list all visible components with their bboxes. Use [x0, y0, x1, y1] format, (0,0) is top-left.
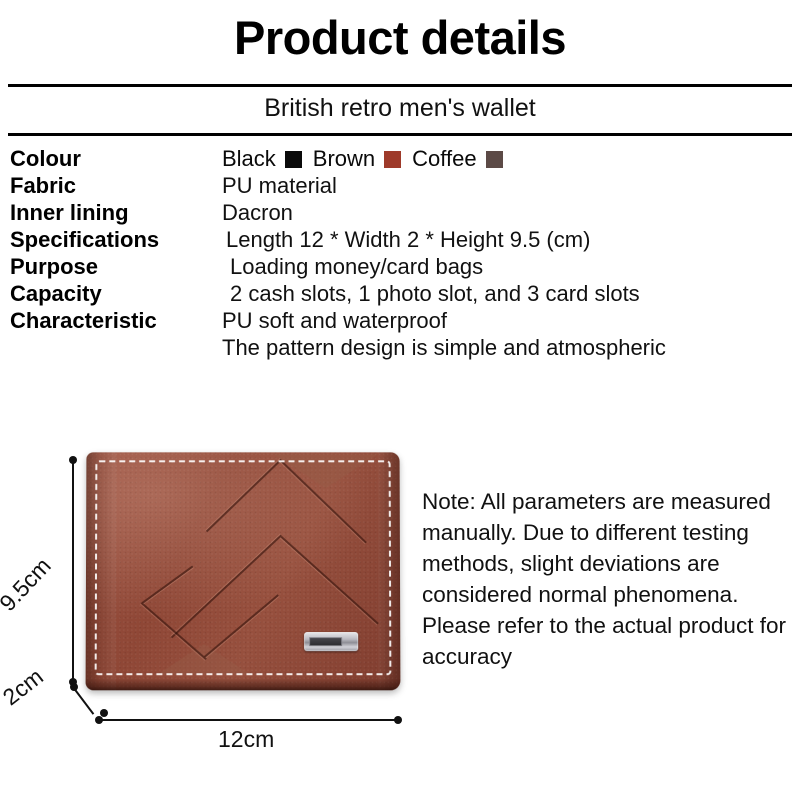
wallet-right-fold [378, 452, 401, 690]
measurement-note: Note: All parameters are measured manual… [422, 486, 798, 672]
spec-label: Characteristic [10, 308, 222, 334]
wallet-seam [206, 459, 282, 532]
wallet-seam [204, 594, 279, 657]
spec-row-specifications: Specifications Length 12 * Width 2 * Hei… [10, 227, 796, 254]
colour-chip-coffee [486, 151, 503, 168]
spec-label: Specifications [10, 227, 222, 253]
spec-row-purpose: Purpose Loading money/card bags [10, 254, 796, 281]
wallet-seam [142, 566, 193, 604]
colour-name-coffee: Coffee [412, 146, 476, 172]
colour-swatch-list: Black Brown Coffee [222, 146, 514, 172]
product-subtitle: British retro men's wallet [0, 94, 800, 123]
spec-value: PU soft and waterproof [222, 308, 447, 334]
wallet-left-fold [86, 452, 117, 690]
spec-label: Purpose [10, 254, 222, 280]
spec-label-spacer [10, 335, 222, 365]
wallet-logo-plate [304, 632, 358, 651]
spec-value: The pattern design is simple and atmosph… [222, 335, 666, 365]
dimension-label-height: 9.5cm [0, 552, 57, 616]
spec-value: PU material [222, 173, 337, 199]
spec-value: Loading money/card bags [222, 254, 483, 280]
product-details-page: Product details British retro men's wall… [0, 0, 800, 800]
dimension-endpoint [70, 683, 78, 691]
spec-value: 2 cash slots, 1 photo slot, and 3 card s… [222, 281, 640, 307]
colour-chip-black [285, 151, 302, 168]
dimension-line-height [72, 460, 74, 682]
wallet-seam [281, 460, 367, 543]
spec-row-fabric: Fabric PU material [10, 173, 796, 200]
page-title: Product details [0, 12, 800, 64]
product-image [86, 452, 400, 694]
wallet-bottom-edge [86, 678, 401, 690]
dimension-endpoint [69, 456, 77, 464]
dimension-line-width [98, 719, 398, 721]
dimension-endpoint [394, 716, 402, 724]
spec-row-inner-lining: Inner lining Dacron [10, 200, 796, 227]
spec-row-characteristic-line2: The pattern design is simple and atmosph… [10, 335, 796, 365]
dimension-label-width: 12cm [218, 726, 274, 753]
dimension-endpoint [95, 716, 103, 724]
wallet-body [86, 452, 401, 690]
dimension-label-depth: 2cm [0, 663, 49, 711]
divider-top [8, 84, 792, 87]
wallet-seam [171, 535, 282, 639]
spec-value: Dacron [222, 200, 293, 226]
colour-chip-brown [384, 151, 401, 168]
spec-row-colour: Colour Black Brown Coffee [10, 146, 796, 173]
spec-label: Colour [10, 146, 222, 172]
spec-value: Length 12 * Width 2 * Height 9.5 (cm) [222, 227, 590, 253]
spec-row-characteristic: Characteristic PU soft and waterproof [10, 308, 796, 335]
spec-label: Fabric [10, 173, 222, 199]
divider-bottom [8, 133, 792, 136]
spec-label: Inner lining [10, 200, 222, 226]
spec-label: Capacity [10, 281, 222, 307]
specification-table: Colour Black Brown Coffee Fabric PU mate… [10, 146, 796, 365]
spec-row-capacity: Capacity 2 cash slots, 1 photo slot, and… [10, 281, 796, 308]
colour-name-brown: Brown [313, 146, 375, 172]
wallet-seam [281, 536, 379, 624]
colour-name-black: Black [222, 146, 276, 172]
